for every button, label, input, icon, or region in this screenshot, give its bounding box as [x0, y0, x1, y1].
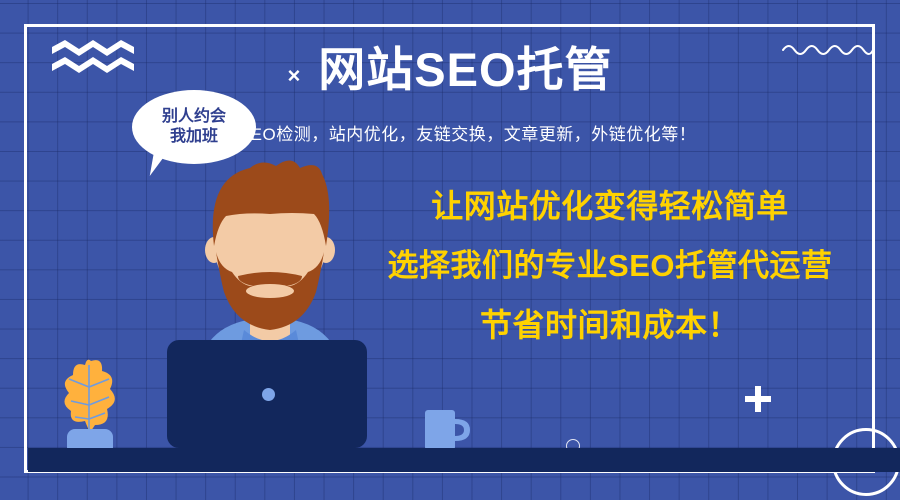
headline-block: 让网站优化变得轻松简单 选择我们的专业SEO托管代运营 节省时间和成本！ — [330, 190, 890, 341]
close-x-icon: × — [287, 65, 300, 87]
page-title: 网站SEO托管 — [318, 44, 612, 96]
desk-illustration — [28, 448, 900, 472]
speech-bubble-line-2: 我加班 — [170, 127, 218, 147]
speech-bubble-line-1: 别人约会 — [162, 107, 226, 127]
headline-line-2: 选择我们的专业SEO托管代运营 — [330, 250, 890, 281]
laptop-logo-icon — [262, 388, 275, 401]
coffee-mug-illustration — [425, 410, 471, 450]
headline-line-3: 节省时间和成本！ — [330, 309, 890, 341]
plus-icon — [745, 386, 771, 412]
headline-line-1: 让网站优化变得轻松简单 — [330, 190, 890, 222]
laptop-illustration — [167, 340, 367, 448]
title-row: × 网站SEO托管 — [0, 44, 900, 96]
seo-hosting-banner: 别人约会 我加班 × 网站SEO托管 含：SEO检测，站内优化，友链交换，文章更… — [0, 0, 900, 500]
speech-bubble: 别人约会 我加班 — [132, 90, 256, 164]
potted-plant-illustration — [55, 345, 125, 460]
